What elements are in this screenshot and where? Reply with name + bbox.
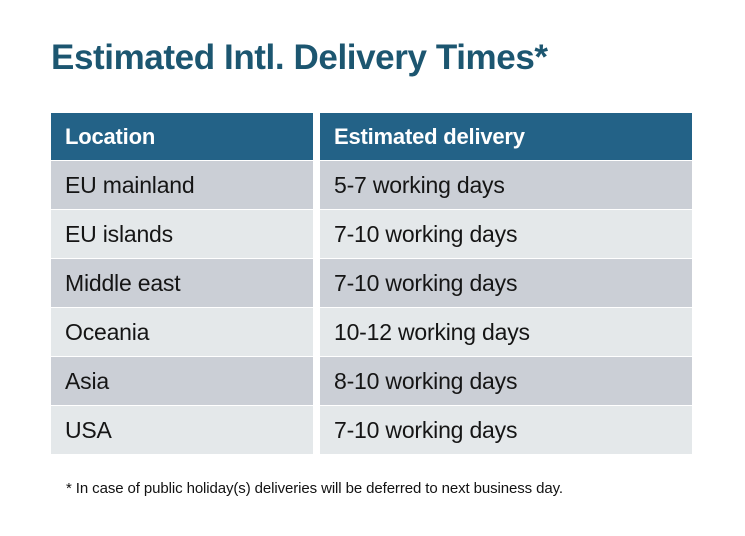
table-row: Middle east 7-10 working days [51,259,692,307]
delivery-times-page: Estimated Intl. Delivery Times* Location… [0,0,745,536]
cell-location: Middle east [51,259,313,307]
table-row: Oceania 10-12 working days [51,308,692,356]
cell-location: EU islands [51,210,313,258]
delivery-times-table: Location Estimated delivery EU mainland … [51,113,692,454]
column-header-location: Location [51,113,313,160]
cell-location: Oceania [51,308,313,356]
page-title: Estimated Intl. Delivery Times* [51,36,548,80]
cell-estimated-delivery: 10-12 working days [320,308,692,356]
table-row: EU mainland 5-7 working days [51,161,692,209]
table-row: Asia 8-10 working days [51,357,692,405]
footnote-text: * In case of public holiday(s) deliverie… [66,480,563,497]
column-header-estimated-delivery: Estimated delivery [320,113,692,160]
cell-estimated-delivery: 5-7 working days [320,161,692,209]
cell-estimated-delivery: 7-10 working days [320,210,692,258]
cell-location: USA [51,406,313,454]
cell-estimated-delivery: 7-10 working days [320,259,692,307]
cell-location: Asia [51,357,313,405]
cell-location: EU mainland [51,161,313,209]
table-row: USA 7-10 working days [51,406,692,454]
cell-estimated-delivery: 8-10 working days [320,357,692,405]
cell-estimated-delivery: 7-10 working days [320,406,692,454]
table-row: EU islands 7-10 working days [51,210,692,258]
table-header-row: Location Estimated delivery [51,113,692,160]
